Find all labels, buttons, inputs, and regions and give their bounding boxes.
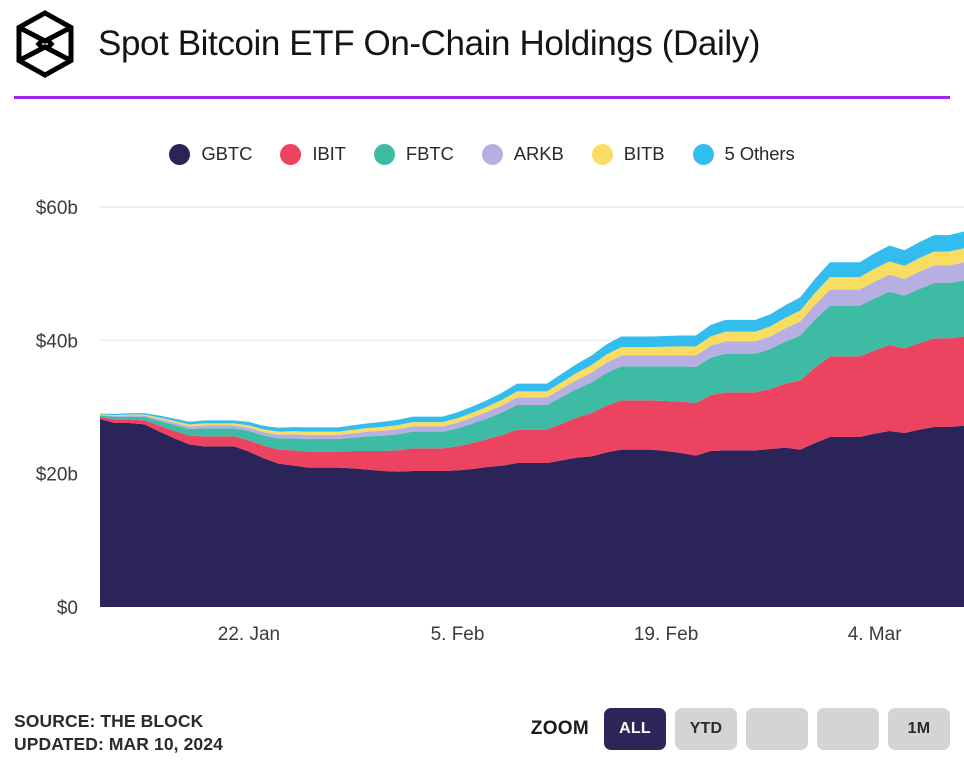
zoom-button-1m[interactable]: 1M xyxy=(888,708,950,750)
chart-plot-area: $0$20b$40b$60b22. Jan5. Feb19. Feb4. Mar xyxy=(0,185,964,675)
x-axis-tick-label: 5. Feb xyxy=(431,624,485,645)
source-line: SOURCE: THE BLOCK xyxy=(14,710,223,733)
stacked-area-chart: $0$20b$40b$60b22. Jan5. Feb19. Feb4. Mar xyxy=(0,185,964,675)
the-block-cube-logo xyxy=(14,10,76,78)
legend-item-label: ARKB xyxy=(514,143,564,165)
legend-item-arkb[interactable]: ARKB xyxy=(482,143,564,165)
x-axis-tick-label: 19. Feb xyxy=(634,624,698,645)
zoom-button-ytd[interactable]: YTD xyxy=(675,708,737,750)
legend-swatch-icon xyxy=(693,144,714,165)
legend-swatch-icon xyxy=(592,144,613,165)
legend-item-label: BITB xyxy=(624,143,665,165)
legend-item-label: 5 Others xyxy=(725,143,795,165)
zoom-button-all[interactable]: ALL xyxy=(604,708,666,750)
chart-legend: GBTCIBITFBTCARKBBITB5 Others xyxy=(0,143,964,165)
legend-item-ibit[interactable]: IBIT xyxy=(280,143,346,165)
legend-swatch-icon xyxy=(482,144,503,165)
legend-item-gbtc[interactable]: GBTC xyxy=(169,143,252,165)
header-divider xyxy=(14,96,950,99)
zoom-button-blank-3[interactable] xyxy=(817,708,879,750)
page-title: Spot Bitcoin ETF On-Chain Holdings (Dail… xyxy=(98,24,760,64)
legend-item-fbtc[interactable]: FBTC xyxy=(374,143,454,165)
zoom-button-blank-2[interactable] xyxy=(746,708,808,750)
y-axis-tick-label: $60b xyxy=(36,198,78,219)
x-axis-tick-label: 22. Jan xyxy=(218,624,280,645)
zoom-range-controls: ZOOM ALLYTD1M xyxy=(531,708,950,750)
legend-swatch-icon xyxy=(280,144,301,165)
x-axis-tick-label: 4. Mar xyxy=(848,624,903,645)
legend-item-label: FBTC xyxy=(406,143,454,165)
source-attribution: SOURCE: THE BLOCK UPDATED: MAR 10, 2024 xyxy=(14,710,223,756)
legend-swatch-icon xyxy=(169,144,190,165)
legend-item-label: GBTC xyxy=(201,143,252,165)
chart-footer: SOURCE: THE BLOCK UPDATED: MAR 10, 2024 … xyxy=(0,704,964,776)
updated-line: UPDATED: MAR 10, 2024 xyxy=(14,733,223,756)
y-axis-tick-label: $0 xyxy=(57,598,78,619)
y-axis-tick-label: $20b xyxy=(36,465,78,486)
legend-item-label: IBIT xyxy=(312,143,346,165)
chart-header: Spot Bitcoin ETF On-Chain Holdings (Dail… xyxy=(0,0,964,88)
legend-item-bitb[interactable]: BITB xyxy=(592,143,665,165)
y-axis-tick-label: $40b xyxy=(36,331,78,352)
legend-swatch-icon xyxy=(374,144,395,165)
legend-item-5-others[interactable]: 5 Others xyxy=(693,143,795,165)
zoom-label: ZOOM xyxy=(531,718,589,740)
